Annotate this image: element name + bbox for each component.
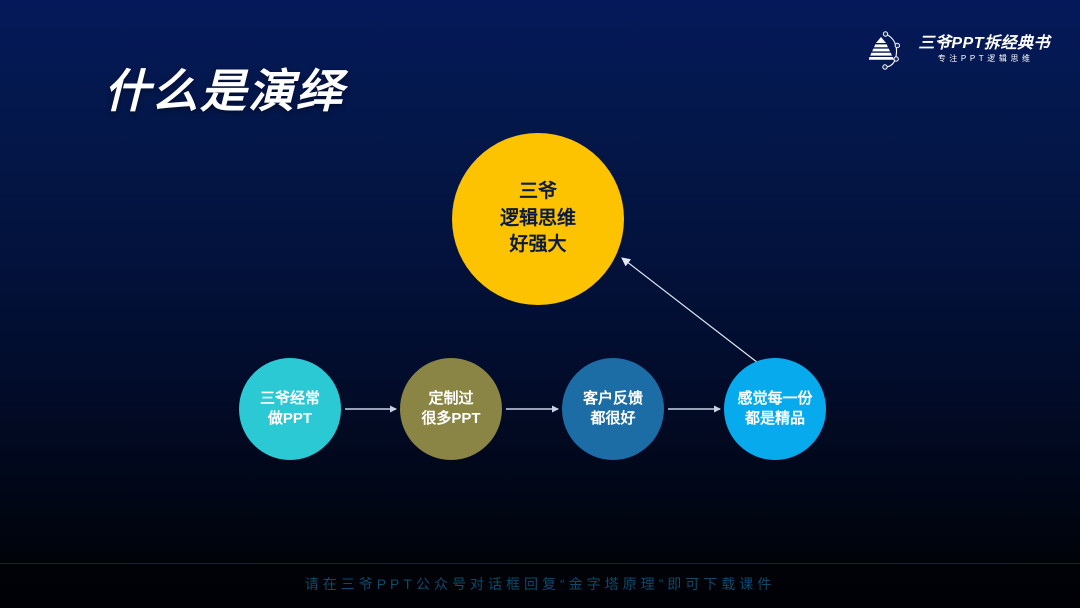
- node-step-1-line-2: 做PPT: [268, 409, 312, 429]
- node-step-3-line-1: 客户反馈: [583, 389, 643, 409]
- connector-step4-conclusion: [622, 258, 762, 366]
- node-conclusion[interactable]: 三爷 逻辑思维 好强大: [452, 133, 624, 305]
- node-conclusion-line-3: 好强大: [509, 232, 566, 259]
- node-step-4-line-2: 都是精品: [745, 409, 805, 429]
- node-step-4[interactable]: 感觉每一份 都是精品: [724, 358, 826, 460]
- node-step-3-line-2: 都很好: [590, 409, 635, 429]
- node-conclusion-line-2: 逻辑思维: [500, 206, 576, 233]
- node-step-2[interactable]: 定制过 很多PPT: [400, 358, 502, 460]
- node-step-3[interactable]: 客户反馈 都很好: [562, 358, 664, 460]
- footer-note: 请在三爷PPT公众号对话框回复“金字塔原理”即可下载课件: [0, 574, 1080, 594]
- footer-divider: [0, 563, 1080, 564]
- node-step-1[interactable]: 三爷经常 做PPT: [239, 358, 341, 460]
- node-step-4-line-1: 感觉每一份: [737, 389, 812, 409]
- node-step-1-line-1: 三爷经常: [260, 389, 320, 409]
- node-step-2-line-2: 很多PPT: [421, 409, 480, 429]
- node-conclusion-line-1: 三爷: [519, 179, 557, 206]
- node-step-2-line-1: 定制过: [428, 389, 473, 409]
- slide-canvas: 三爷PPT拆经典书 专注PPT逻辑思维 什么是演绎 三爷 逻辑思维 好强大 三爷…: [0, 0, 1080, 608]
